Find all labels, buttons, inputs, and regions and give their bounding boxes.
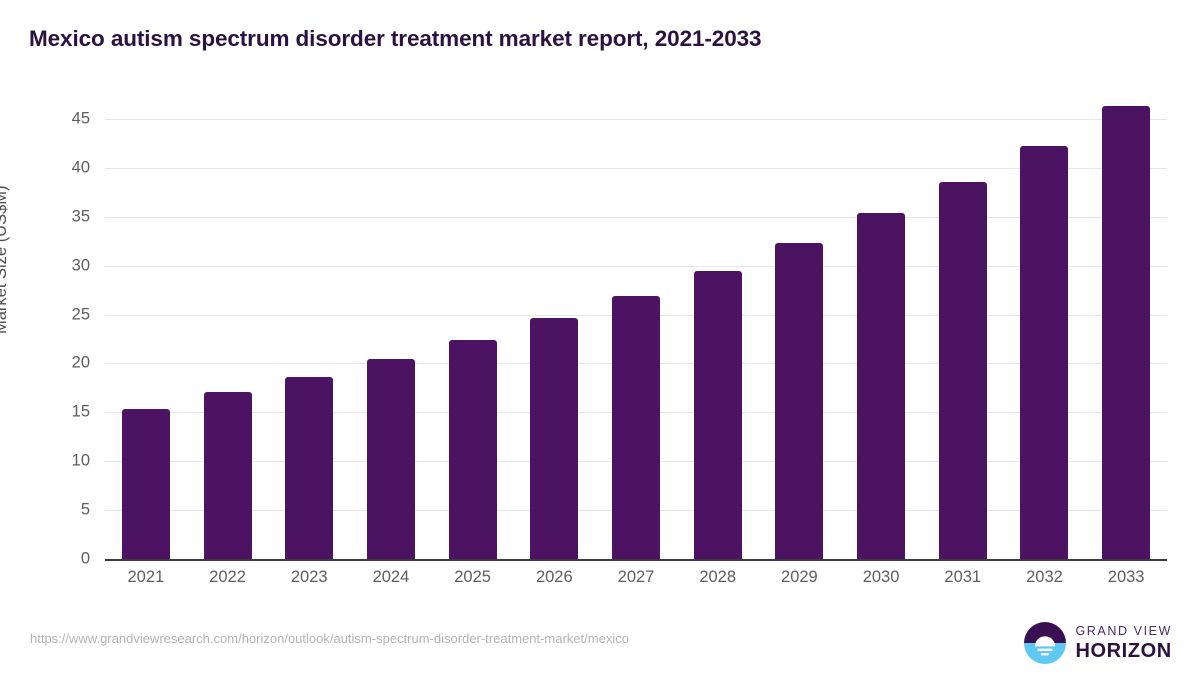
x-axis-tick-label: 2033 [1108, 568, 1145, 587]
y-axis-tick-label: 5 [81, 501, 90, 520]
x-axis-tick-label: 2021 [127, 568, 164, 587]
y-axis-tick-label: 45 [72, 109, 90, 128]
logo-bottom-text: HORIZON [1075, 641, 1172, 661]
y-axis-tick-label: 40 [72, 158, 90, 177]
bar[interactable] [612, 296, 660, 559]
x-axis-tick-label: 2027 [618, 568, 655, 587]
bar[interactable] [530, 318, 578, 559]
x-axis-tick-label: 2023 [291, 568, 328, 587]
bar[interactable] [204, 392, 252, 559]
x-axis-tick-label: 2032 [1026, 568, 1063, 587]
x-axis-tick-label: 2025 [454, 568, 491, 587]
y-axis-tick-label: 20 [72, 354, 90, 373]
logo-wordmark: GRAND VIEW HORIZON [1075, 625, 1172, 661]
x-axis-tick-label: 2024 [373, 568, 410, 587]
y-axis-tick-label: 10 [72, 452, 90, 471]
y-axis-title: Market Size (US$M) [0, 185, 11, 334]
bar[interactable] [939, 182, 987, 560]
bar-series [105, 110, 1167, 559]
bar[interactable] [285, 377, 333, 559]
x-axis-tick-label: 2026 [536, 568, 573, 587]
logo-top-text: GRAND VIEW [1075, 625, 1172, 638]
y-axis-tick-label: 15 [72, 403, 90, 422]
x-axis-tick-label: 2031 [944, 568, 981, 587]
x-axis-tick-labels: 2021202220232024202520262027202820292030… [105, 568, 1167, 598]
x-axis-line [105, 559, 1167, 561]
horizon-sun-icon [1024, 622, 1066, 664]
bar[interactable] [1102, 106, 1150, 559]
y-axis-tick-label: 25 [72, 305, 90, 324]
bar[interactable] [857, 213, 905, 559]
bar[interactable] [1020, 146, 1068, 559]
x-axis-tick-label: 2029 [781, 568, 818, 587]
chart-canvas: 051015202530354045 Market Size (US$M) 20… [0, 0, 1200, 675]
chart-page: Mexico autism spectrum disorder treatmen… [0, 0, 1200, 675]
bar[interactable] [122, 409, 170, 559]
bar[interactable] [449, 340, 497, 559]
brand-logo: GRAND VIEW HORIZON [1024, 620, 1172, 666]
y-axis-tick-label: 35 [72, 207, 90, 226]
source-url[interactable]: https://www.grandviewresearch.com/horizo… [30, 631, 629, 646]
x-axis-tick-label: 2030 [863, 568, 900, 587]
y-axis-tick-label: 0 [81, 550, 90, 569]
x-axis-tick-label: 2028 [699, 568, 736, 587]
bar[interactable] [367, 359, 415, 559]
y-axis-tick-label: 30 [72, 256, 90, 275]
x-axis-tick-label: 2022 [209, 568, 246, 587]
bar[interactable] [694, 271, 742, 560]
y-axis-tick-labels: 051015202530354045 [0, 0, 105, 675]
bar[interactable] [775, 243, 823, 559]
